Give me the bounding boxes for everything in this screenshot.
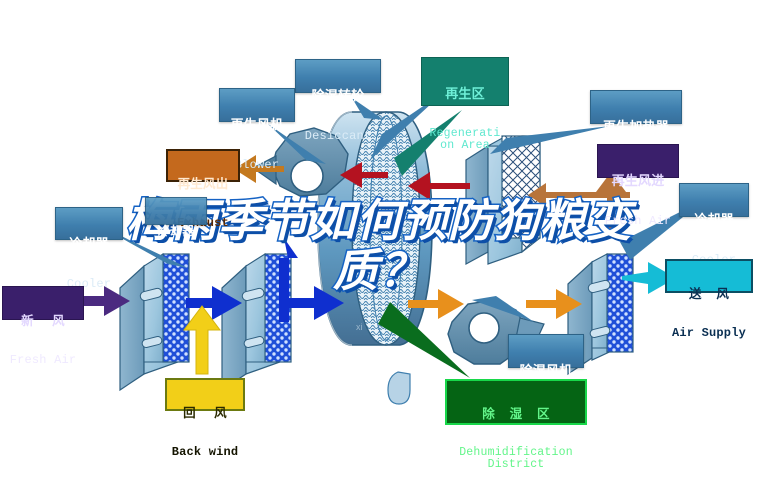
process-riser [279, 238, 298, 322]
label-regeneration-area-cn: 再生区 [422, 87, 508, 101]
label-regeneration-fresh-air-in[interactable]: 再生风进 Fresh Air [597, 144, 679, 178]
label-regeneration-fresh-air-in-en: Fresh Air [598, 215, 678, 227]
label-desiccant-rotor-cn: 除湿转轮 [296, 89, 380, 103]
diagram-canvas: xi [0, 0, 757, 488]
label-cooler-left[interactable]: 冷却器 Cooler [55, 207, 123, 240]
label-regeneration-heater-cn: 再生加热器 [591, 120, 681, 134]
label-cooler-mid[interactable]: 冷却器 [145, 197, 207, 225]
svg-text:xi: xi [356, 322, 363, 332]
label-cooler-mid-cn: 冷却器 [146, 225, 206, 237]
label-regeneration-heater[interactable]: 再生加热器 heater [590, 90, 682, 124]
label-back-wind-cn: 回 风 [167, 407, 243, 420]
label-fresh-air-in-cn: 新 风 [3, 315, 83, 328]
label-regeneration-exhaust[interactable]: 再生风出 Exhaust [166, 149, 240, 182]
label-dehumidification-district[interactable]: 除 湿 区 Dehumidification District [445, 379, 587, 425]
label-desiccant-rotor[interactable]: 除湿转轮 Desiccant [295, 59, 381, 93]
label-fresh-air-in-en: Fresh Air [3, 354, 83, 366]
label-cooler-right[interactable]: 冷却器 Cooler [679, 183, 749, 217]
label-fresh-air-in[interactable]: 新 风 Fresh Air [2, 286, 84, 320]
label-regeneration-fresh-air-in-cn: 再生风进 [598, 174, 678, 188]
label-regeneration-blower-cn: 再生风机 [220, 118, 294, 132]
label-dehumidification-blower[interactable]: 除湿风机 Blower [508, 334, 584, 368]
label-back-wind-en: Back wind [167, 446, 243, 458]
label-air-supply-en: Air Supply [667, 327, 751, 339]
label-dehumidification-district-cn: 除 湿 区 [447, 408, 585, 421]
cooler-coil-1 [120, 254, 189, 390]
label-regeneration-area[interactable]: 再生区 Regenerati on Area [421, 57, 509, 106]
label-regeneration-exhaust-cn: 再生风出 [168, 178, 238, 191]
label-regeneration-area-en: Regenerati on Area [422, 128, 508, 152]
label-cooler-right-cn: 冷却器 [680, 213, 748, 227]
label-cooler-left-cn: 冷却器 [56, 237, 122, 251]
label-air-supply-cn: 送 风 [667, 288, 751, 301]
label-regeneration-blower[interactable]: 再生风机 Blower [219, 88, 295, 122]
label-dehumidification-district-en: Dehumidification District [447, 447, 585, 470]
label-desiccant-rotor-en: Desiccant [296, 130, 380, 142]
label-dehumidification-blower-cn: 除湿风机 [509, 364, 583, 378]
label-air-supply[interactable]: 送 风 Air Supply [665, 259, 753, 293]
label-back-wind[interactable]: 回 风 Back wind [165, 378, 245, 411]
